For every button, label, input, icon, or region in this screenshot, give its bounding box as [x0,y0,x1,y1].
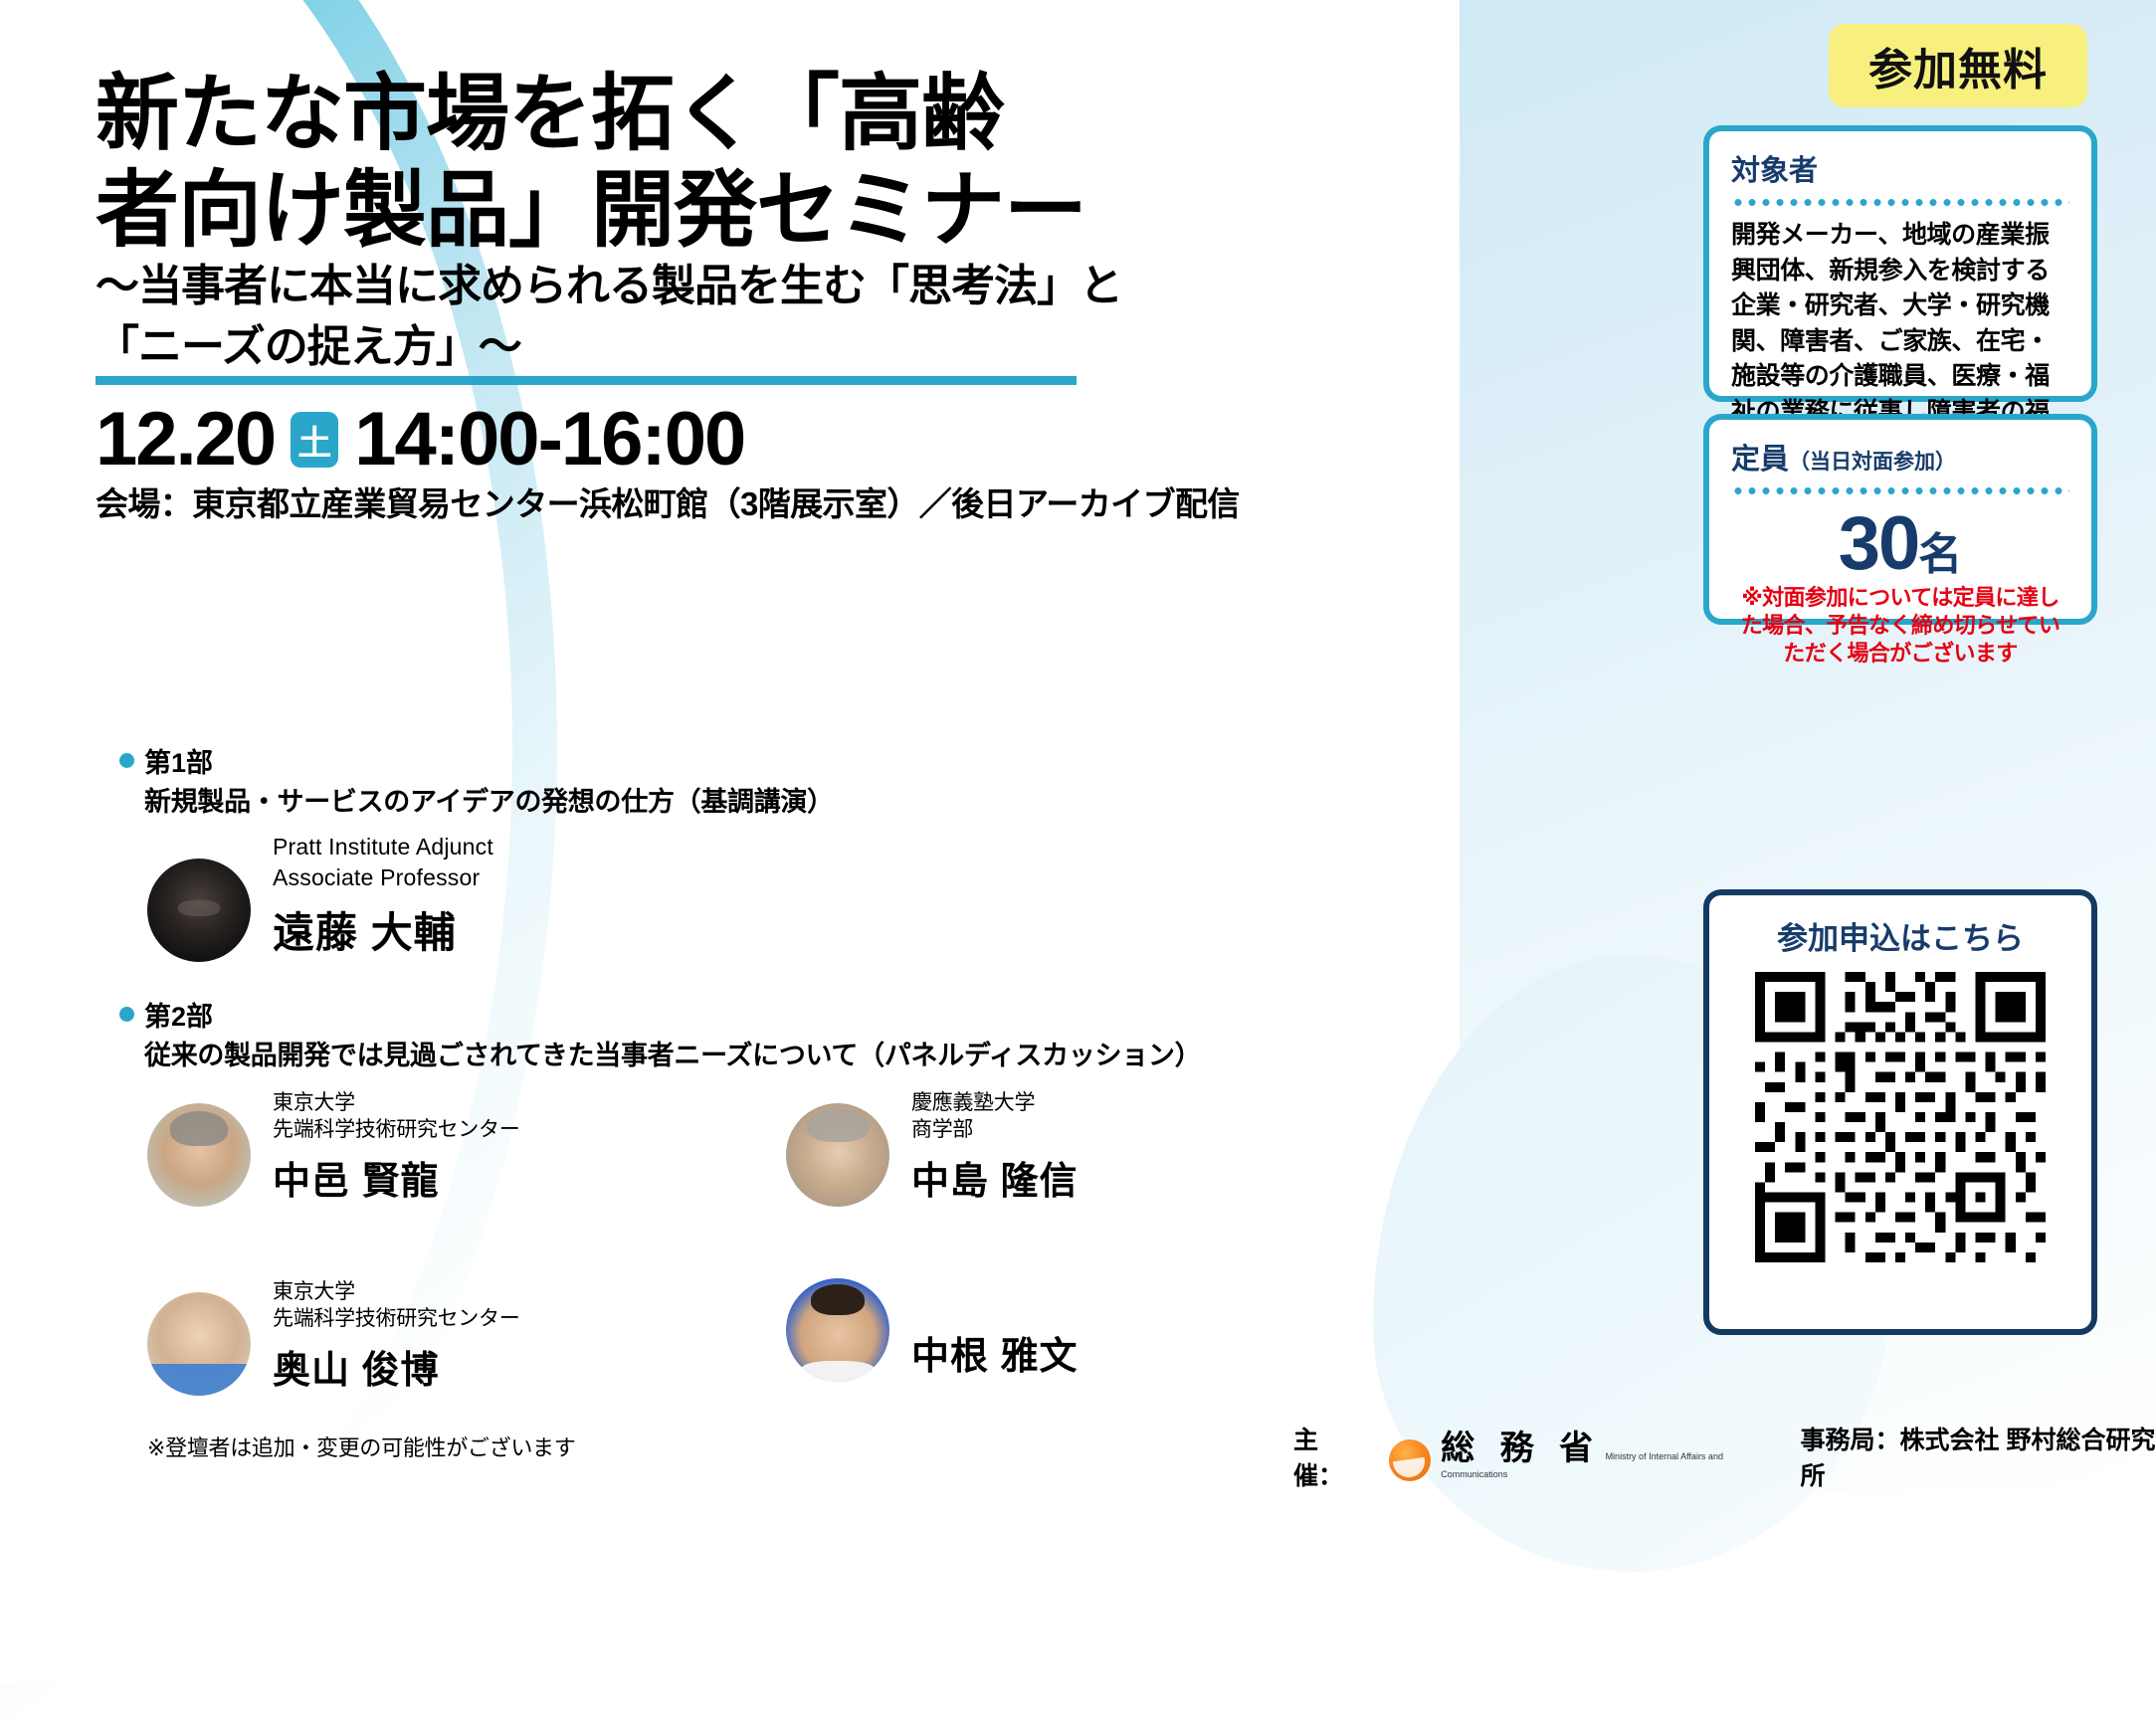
title-divider [96,376,1077,385]
registration-card-title: 参加申込はこちら [1777,913,2024,958]
event-time: 14:00-16:00 [354,402,744,478]
avatar [147,859,251,962]
speaker-endo: Pratt Institute Adjunct Associate Profes… [147,832,493,962]
host-label: 主催： [1293,1421,1363,1492]
secretariat-label: 事務局：株式会社 野村総合研究所 [1801,1421,2156,1492]
part-1-description: 新規製品・サービスのアイデアの発想の仕方（基調講演） [144,780,834,819]
avatar [147,1292,251,1396]
page-subtitle-line2: 「ニーズの捉え方」〜 [96,317,1150,378]
capacity-note: ※対面参加については定員に達した場合、予告なく締め切らせていただく場合がございま… [1731,584,2069,668]
avatar-photo [786,1103,889,1207]
page-title: 新たな市場を拓く「高齢 者向け製品」開発セミナー [96,66,1170,258]
panelist-nakajima: 慶應義塾大学 商学部 中島 隆信 [786,1089,1078,1207]
part-2-description: 従来の製品開発では見過ごされてきた当事者ニーズについて（パネルディスカッション） [144,1034,1201,1072]
mic-logo-mark-icon [1389,1439,1431,1481]
part-2-heading-label: 第2部 [144,995,213,1034]
audience-card: 対象者 開発メーカー、地域の産業振興団体、新規参入を検討する企業・研究者、大学・… [1703,125,2097,402]
panelist-okuyama-affil-line1: 東京大学 [273,1278,519,1305]
capacity-number-value: 30 [1839,501,1919,586]
registration-card[interactable]: 参加申込はこちら [1703,889,2097,1335]
avatar-photo [147,859,251,962]
avatar-photo [147,1292,251,1396]
panelist-nakamura-name: 中邑 賢龍 [273,1150,519,1205]
dotted-divider [1731,487,2069,494]
part-2-heading: 第2部 [119,995,1201,1034]
capacity-card: 定員（当日対面参加） 30名 ※対面参加については定員に達した場合、予告なく締め… [1703,414,2097,625]
capacity-number: 30名 [1731,506,2069,582]
panelist-okuyama-affil-line2: 先端科学技術研究センター [273,1305,519,1332]
footer-organizers: 主催： 総 務 省 Ministry of Internal Affairs a… [1293,1421,2156,1492]
speaker-endo-name: 遠藤 大輔 [273,899,493,960]
qr-code-icon[interactable] [1755,972,2046,1262]
panelist-nakane-name: 中根 雅文 [911,1325,1078,1380]
panelist-nakajima-affil-line1: 慶應義塾大学 [911,1089,1078,1116]
avatar [786,1278,889,1382]
capacity-card-title-main: 定員 [1731,444,1789,476]
part-2: 第2部 従来の製品開発では見過ごされてきた当事者ニーズについて（パネルディスカッ… [119,995,1201,1072]
speaker-endo-title-line1: Pratt Institute Adjunct [273,832,493,862]
speaker-endo-title-line2: Associate Professor [273,862,493,893]
mic-logo: 総 務 省 Ministry of Internal Affairs and C… [1389,1432,1766,1481]
dotted-divider [1731,199,2069,206]
page-title-line2: 者向け製品」開発セミナー [96,162,1170,259]
speaker-change-note: ※登壇者は追加・変更の可能性がございます [147,1431,575,1462]
weekday-badge: 土 [291,412,338,468]
free-admission-badge: 参加無料 [1829,24,2087,107]
event-date: 12.20 [96,402,275,478]
event-venue: 会場：東京都立産業貿易センター浜松町館（3階展示室）／後日アーカイブ配信 [96,478,1110,525]
host-name: 総 務 省 [1441,1430,1601,1467]
page-subtitle-line1: 〜当事者に本当に求められる製品を生む「思考法」と [96,257,1150,317]
avatar [786,1103,889,1207]
avatar [147,1103,251,1207]
panelist-nakamura-affil-line2: 先端科学技術研究センター [273,1116,519,1143]
part-1-heading: 第1部 [119,741,834,780]
panelist-nakajima-name: 中島 隆信 [911,1150,1078,1205]
capacity-number-unit: 名 [1918,530,1962,579]
panelist-nakane: 中根 雅文 [786,1278,1078,1382]
part-1-heading-label: 第1部 [144,741,213,780]
page-title-line1: 新たな市場を拓く「高齢 [96,66,1170,162]
capacity-card-title-sub: （当日対面参加） [1789,451,1956,474]
event-datetime: 12.20 土 14:00-16:00 [96,402,744,478]
panelist-nakamura: 東京大学 先端科学技術研究センター 中邑 賢龍 [147,1089,519,1207]
page-subtitle: 〜当事者に本当に求められる製品を生む「思考法」と 「ニーズの捉え方」〜 [96,257,1150,377]
bullet-icon [119,1007,134,1022]
panelist-nakamura-affil-line1: 東京大学 [273,1089,519,1116]
bullet-icon [119,753,134,768]
panelist-okuyama-name: 奥山 俊博 [273,1339,519,1394]
avatar-photo [147,1103,251,1207]
audience-card-title: 対象者 [1731,147,2069,189]
avatar-photo [786,1278,889,1382]
panelist-okuyama: 東京大学 先端科学技術研究センター 奥山 俊博 [147,1278,519,1396]
part-1: 第1部 新規製品・サービスのアイデアの発想の仕方（基調講演） [119,741,834,819]
capacity-card-title: 定員（当日対面参加） [1731,436,2069,478]
panelist-nakajima-affil-line2: 商学部 [911,1116,1078,1143]
